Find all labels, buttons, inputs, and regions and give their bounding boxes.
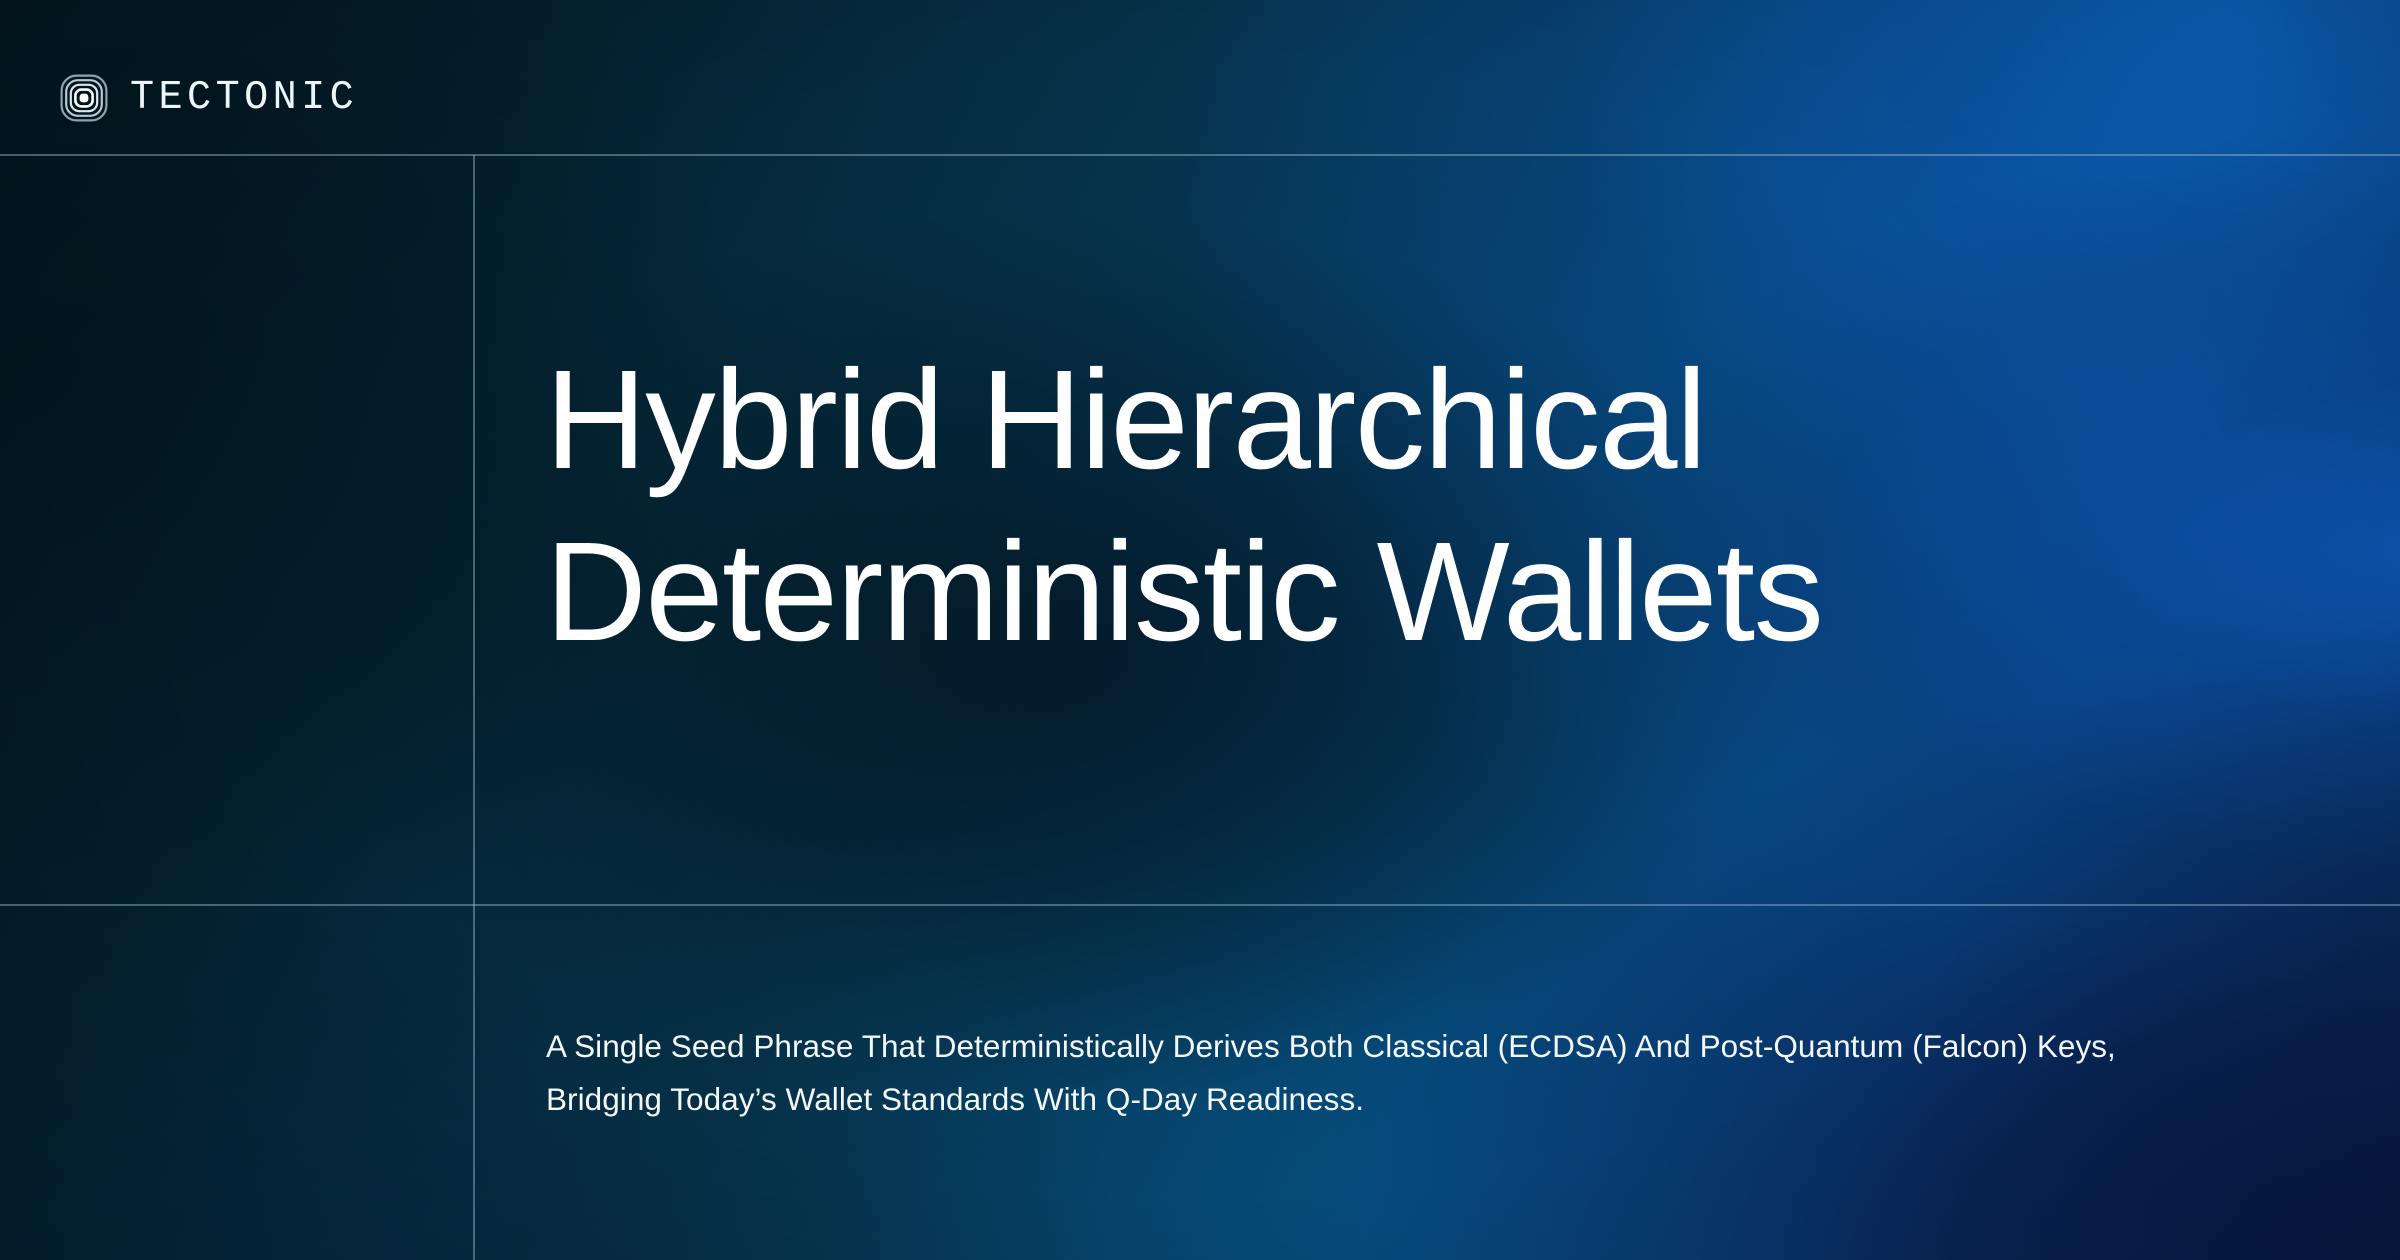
tectonic-logo-icon [60,74,108,122]
divider-content-vertical [473,155,475,1260]
page-subtitle: A Single Seed Phrase That Deterministica… [546,1020,2166,1127]
brand-lockup[interactable]: TECTONIC [60,70,363,126]
divider-body-horizontal [0,904,2400,906]
brand-wordmark: TECTONIC [130,78,358,119]
page-title: Hybrid Hierarchical Deterministic Wallet… [545,333,2105,677]
slide-root: TECTONIC Hybrid Hierarchical Determinist… [0,0,2400,1260]
divider-header-horizontal [0,154,2400,156]
